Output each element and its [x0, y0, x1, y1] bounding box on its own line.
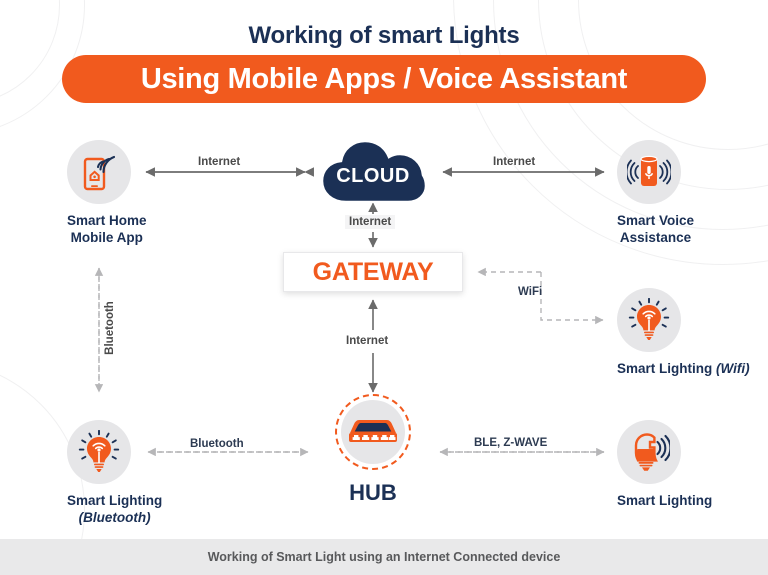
node-label-line2: Mobile App — [71, 230, 143, 245]
node-label: Smart Lighting (Wifi) — [617, 361, 750, 378]
subtitle-banner-label: Using Mobile Apps / Voice Assistant — [141, 63, 627, 96]
subtitle-banner: Using Mobile Apps / Voice Assistant — [62, 55, 706, 103]
connector-label-hub-lightble: BLE, Z-WAVE — [474, 437, 547, 449]
node-label: Smart Home Mobile App — [67, 213, 147, 247]
node-cloud[interactable]: CLOUD — [318, 138, 428, 211]
node-label-sub: (Bluetooth) — [67, 510, 162, 527]
node-hub[interactable]: HUB — [335, 394, 411, 506]
node-label-text: Smart Lighting — [617, 361, 712, 376]
node-circle — [67, 420, 131, 484]
connector-label-cloud-voice: Internet — [493, 156, 535, 168]
connector-label-app-lightbluetooth: Bluetooth — [104, 291, 116, 365]
connector-label-app-cloud: Internet — [198, 156, 240, 168]
bulb-wifi-icon — [628, 298, 670, 342]
node-label-sub: (Wifi) — [716, 361, 750, 376]
bulb-waves-icon — [628, 431, 670, 473]
node-circle — [67, 140, 131, 204]
node-smart-lighting-ble[interactable]: Smart Lighting — [617, 420, 712, 510]
router-hub-icon — [347, 414, 399, 450]
node-circle — [617, 420, 681, 484]
node-smart-voice-assistance[interactable]: Smart Voice Assistance — [617, 140, 694, 247]
node-label-line2: Assistance — [620, 230, 691, 245]
diagram-canvas: Working of smart Lights Using Mobile App… — [0, 0, 768, 575]
bulb-wifi-icon — [78, 430, 120, 474]
node-label: Smart Lighting (Bluetooth) — [67, 493, 162, 527]
node-circle — [617, 140, 681, 204]
node-label-line1: Smart Home — [67, 213, 147, 228]
node-circle — [617, 288, 681, 352]
footer-caption-bar: Working of Smart Light using an Internet… — [0, 539, 768, 575]
node-smart-lighting-wifi[interactable]: Smart Lighting (Wifi) — [617, 288, 750, 378]
connector-label-cloud-gateway: Internet — [345, 215, 395, 229]
connector-label-gateway-lightwifi: WiFi — [518, 286, 542, 298]
page-title: Working of smart Lights — [0, 22, 768, 50]
footer-caption: Working of Smart Light using an Internet… — [208, 550, 561, 564]
node-gateway[interactable]: GATEWAY — [283, 252, 463, 292]
node-smart-lighting-bluetooth[interactable]: Smart Lighting (Bluetooth) — [67, 420, 162, 527]
smart-speaker-mic-icon — [627, 152, 671, 192]
smartphone-wifi-icon — [81, 153, 117, 191]
connector-label-hub-lightbluetooth: Bluetooth — [190, 438, 244, 450]
node-hub-label: HUB — [335, 480, 411, 506]
node-smart-home-mobile-app[interactable]: Smart Home Mobile App — [67, 140, 147, 247]
node-label-line1: Smart Voice — [617, 213, 694, 228]
connector-label-gateway-hub: Internet — [346, 335, 388, 347]
node-gateway-label: GATEWAY — [313, 258, 434, 287]
node-cloud-label: CLOUD — [318, 165, 428, 188]
node-label: Smart Voice Assistance — [617, 213, 694, 247]
node-label-text: Smart Lighting — [67, 493, 162, 508]
node-circle-inner — [341, 400, 405, 464]
node-circle-dashed — [335, 394, 411, 470]
node-label-text: Smart Lighting — [617, 493, 712, 508]
node-label: Smart Lighting — [617, 493, 712, 510]
